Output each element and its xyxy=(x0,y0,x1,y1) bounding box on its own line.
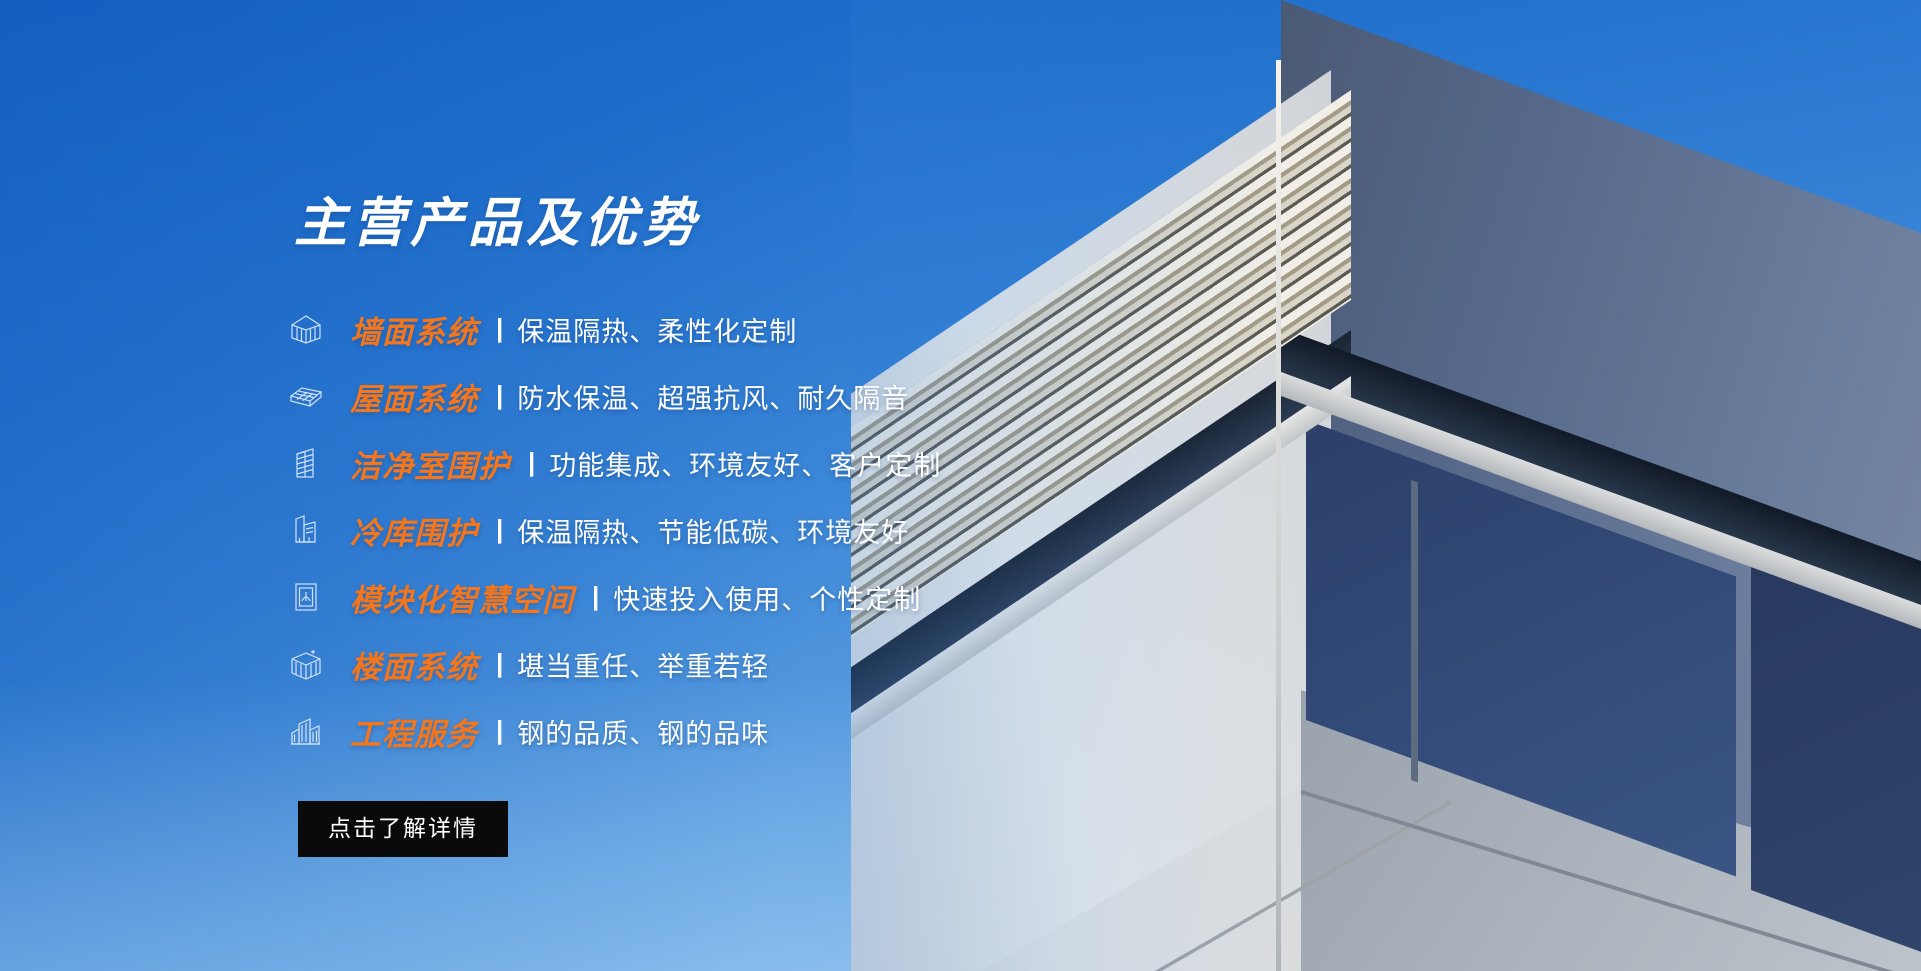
feature-separator: | xyxy=(496,648,503,679)
engineering-svc-icon xyxy=(288,713,342,749)
feature-separator: | xyxy=(496,313,503,344)
cleanroom-icon xyxy=(288,445,342,481)
banner-content: 主营产品及优势 墙面系统 | 保温隔热、柔性化定制 xyxy=(288,196,1128,857)
learn-more-button[interactable]: 点击了解详情 xyxy=(298,801,508,857)
feature-title: 冷库围护 xyxy=(350,508,478,553)
cta-container: 点击了解详情 xyxy=(298,801,1128,857)
feature-separator: | xyxy=(528,447,535,478)
feature-title: 楼面系统 xyxy=(350,642,478,687)
feature-description: 保温隔热、柔性化定制 xyxy=(517,310,797,349)
page-title: 主营产品及优势 xyxy=(294,196,1128,252)
feature-description: 功能集成、环境友好、客户定制 xyxy=(549,444,941,483)
feature-description: 快速投入使用、个性定制 xyxy=(613,578,921,617)
feature-description: 保温隔热、节能低碳、环境友好 xyxy=(517,511,909,550)
feature-title: 模块化智慧空间 xyxy=(350,575,574,620)
list-item[interactable]: 冷库围护 | 保温隔热、节能低碳、环境友好 xyxy=(288,497,1128,564)
wall-panel-icon xyxy=(288,311,342,347)
feature-title: 工程服务 xyxy=(350,709,478,754)
feature-separator: | xyxy=(496,380,503,411)
list-item[interactable]: 工程服务 | 钢的品质、钢的品味 xyxy=(288,698,1128,765)
cold-storage-icon xyxy=(288,512,342,548)
feature-list: 墙面系统 | 保温隔热、柔性化定制 屋面系统 | 防水保温、超强抗风、耐久隔音 xyxy=(288,296,1128,765)
feature-title: 墙面系统 xyxy=(350,307,478,352)
list-item[interactable]: 楼面系统 | 堪当重任、举重若轻 xyxy=(288,631,1128,698)
roof-panel-icon xyxy=(288,378,342,414)
list-item[interactable]: 洁净室围护 | 功能集成、环境友好、客户定制 xyxy=(288,430,1128,497)
feature-description: 堪当重任、举重若轻 xyxy=(517,645,769,684)
feature-description: 钢的品质、钢的品味 xyxy=(517,712,769,751)
modular-space-icon xyxy=(288,579,342,615)
floor-system-icon xyxy=(288,646,342,682)
feature-separator: | xyxy=(592,581,599,612)
feature-separator: | xyxy=(496,715,503,746)
feature-title: 屋面系统 xyxy=(350,374,478,419)
feature-title: 洁净室围护 xyxy=(350,441,510,486)
list-item[interactable]: 墙面系统 | 保温隔热、柔性化定制 xyxy=(288,296,1128,363)
banner-stage: 主营产品及优势 墙面系统 | 保温隔热、柔性化定制 xyxy=(0,0,1921,971)
feature-description: 防水保温、超强抗风、耐久隔音 xyxy=(517,377,909,416)
list-item[interactable]: 模块化智慧空间 | 快速投入使用、个性定制 xyxy=(288,564,1128,631)
list-item[interactable]: 屋面系统 | 防水保温、超强抗风、耐久隔音 xyxy=(288,363,1128,430)
feature-separator: | xyxy=(496,514,503,545)
